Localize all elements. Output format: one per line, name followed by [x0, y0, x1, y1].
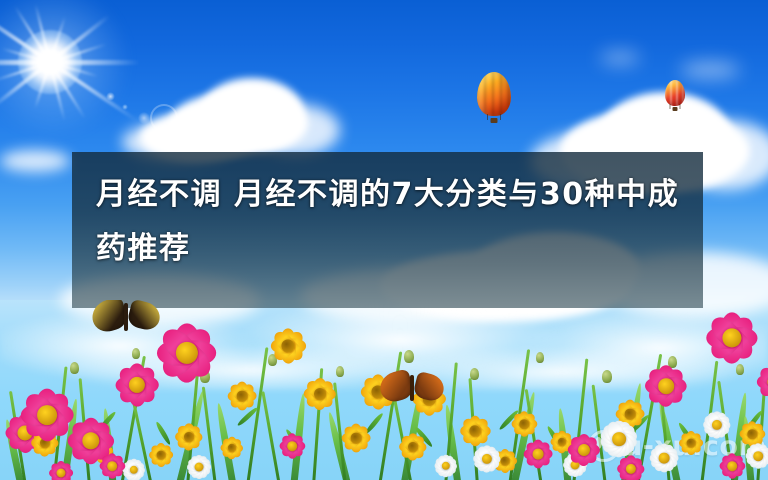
flower-center: [659, 453, 670, 464]
flower-center: [658, 378, 674, 394]
yellow-coreopsis-flower: [218, 434, 246, 462]
butterfly-wing: [413, 371, 447, 403]
flower-bud: [404, 350, 414, 363]
yellow-coreopsis-flower: [300, 374, 340, 414]
butterfly-body: [124, 303, 128, 330]
flower-center: [314, 388, 326, 400]
flower-center: [195, 463, 204, 472]
flower-center: [578, 444, 590, 456]
flower-center: [519, 419, 529, 429]
flower-center: [287, 441, 297, 451]
balloon-envelope: [665, 80, 685, 106]
pink-cosmos-flower: [150, 316, 224, 390]
cloud-small: [600, 52, 640, 64]
flower-bud: [536, 352, 544, 363]
flower-center: [747, 429, 757, 439]
flower-center: [37, 405, 57, 425]
orange-butterfly: [380, 372, 444, 404]
hot-air-balloon-red: [665, 80, 685, 106]
flower-center: [351, 433, 362, 444]
cosmos-and-coreopsis-flower-field: [0, 300, 768, 480]
balloon-basket: [673, 107, 678, 111]
page-title: 月经不调 月经不调的7大分类与30种中成药推荐: [96, 168, 696, 276]
pink-cosmos-flower: [96, 450, 128, 480]
pink-cosmos-flower: [276, 430, 308, 462]
sun-core: [18, 30, 82, 94]
pink-cosmos-flower: [640, 360, 692, 412]
lens-flare-orb: [122, 104, 128, 110]
pink-cosmos-flower: [716, 450, 748, 480]
flower-bud: [470, 368, 479, 380]
white-daisy-flower: [646, 440, 682, 476]
flower-center: [727, 461, 737, 471]
cloud-small: [0, 150, 70, 172]
balloon-basket: [491, 118, 498, 123]
balloon-envelope: [477, 72, 511, 116]
cloud-small: [680, 62, 740, 78]
flower-center: [107, 461, 117, 471]
flower-center: [687, 439, 696, 448]
butterfly-wing: [127, 300, 163, 332]
white-daisy-flower: [470, 442, 504, 476]
lens-flare-orb: [138, 112, 150, 124]
lens-flare-orb: [106, 92, 115, 101]
flower-center: [157, 451, 166, 460]
flower-center: [533, 449, 544, 460]
pink-cosmos-flower: [46, 458, 76, 480]
white-daisy-flower: [596, 416, 642, 462]
flower-center: [753, 451, 763, 461]
cloud-puff: [250, 104, 340, 156]
yellow-coreopsis-flower: [172, 420, 206, 454]
yellow-coreopsis-flower: [338, 420, 374, 456]
yellow-coreopsis-flower: [224, 378, 260, 414]
image-canvas: 月经不调 月经不调的7大分类与30种中成药推荐 u-xu.com: [0, 0, 768, 480]
flower-center: [237, 391, 248, 402]
hot-air-balloon-orange: [477, 72, 511, 116]
flower-center: [612, 432, 626, 446]
flower-center: [57, 469, 66, 478]
swallowtail-butterfly: [92, 300, 160, 334]
pink-cosmos-flower: [700, 306, 764, 370]
yellow-coreopsis-flower: [146, 440, 176, 470]
white-daisy-flower: [184, 452, 214, 480]
flower-bud: [70, 362, 79, 374]
butterfly-body: [410, 375, 414, 401]
white-daisy-flower: [432, 452, 460, 480]
yellow-coreopsis-flower: [396, 430, 430, 464]
white-daisy-flower: [700, 408, 734, 442]
yellow-coreopsis-flower: [266, 324, 310, 368]
flower-bud: [602, 370, 612, 383]
pink-cosmos-flower: [520, 436, 556, 472]
